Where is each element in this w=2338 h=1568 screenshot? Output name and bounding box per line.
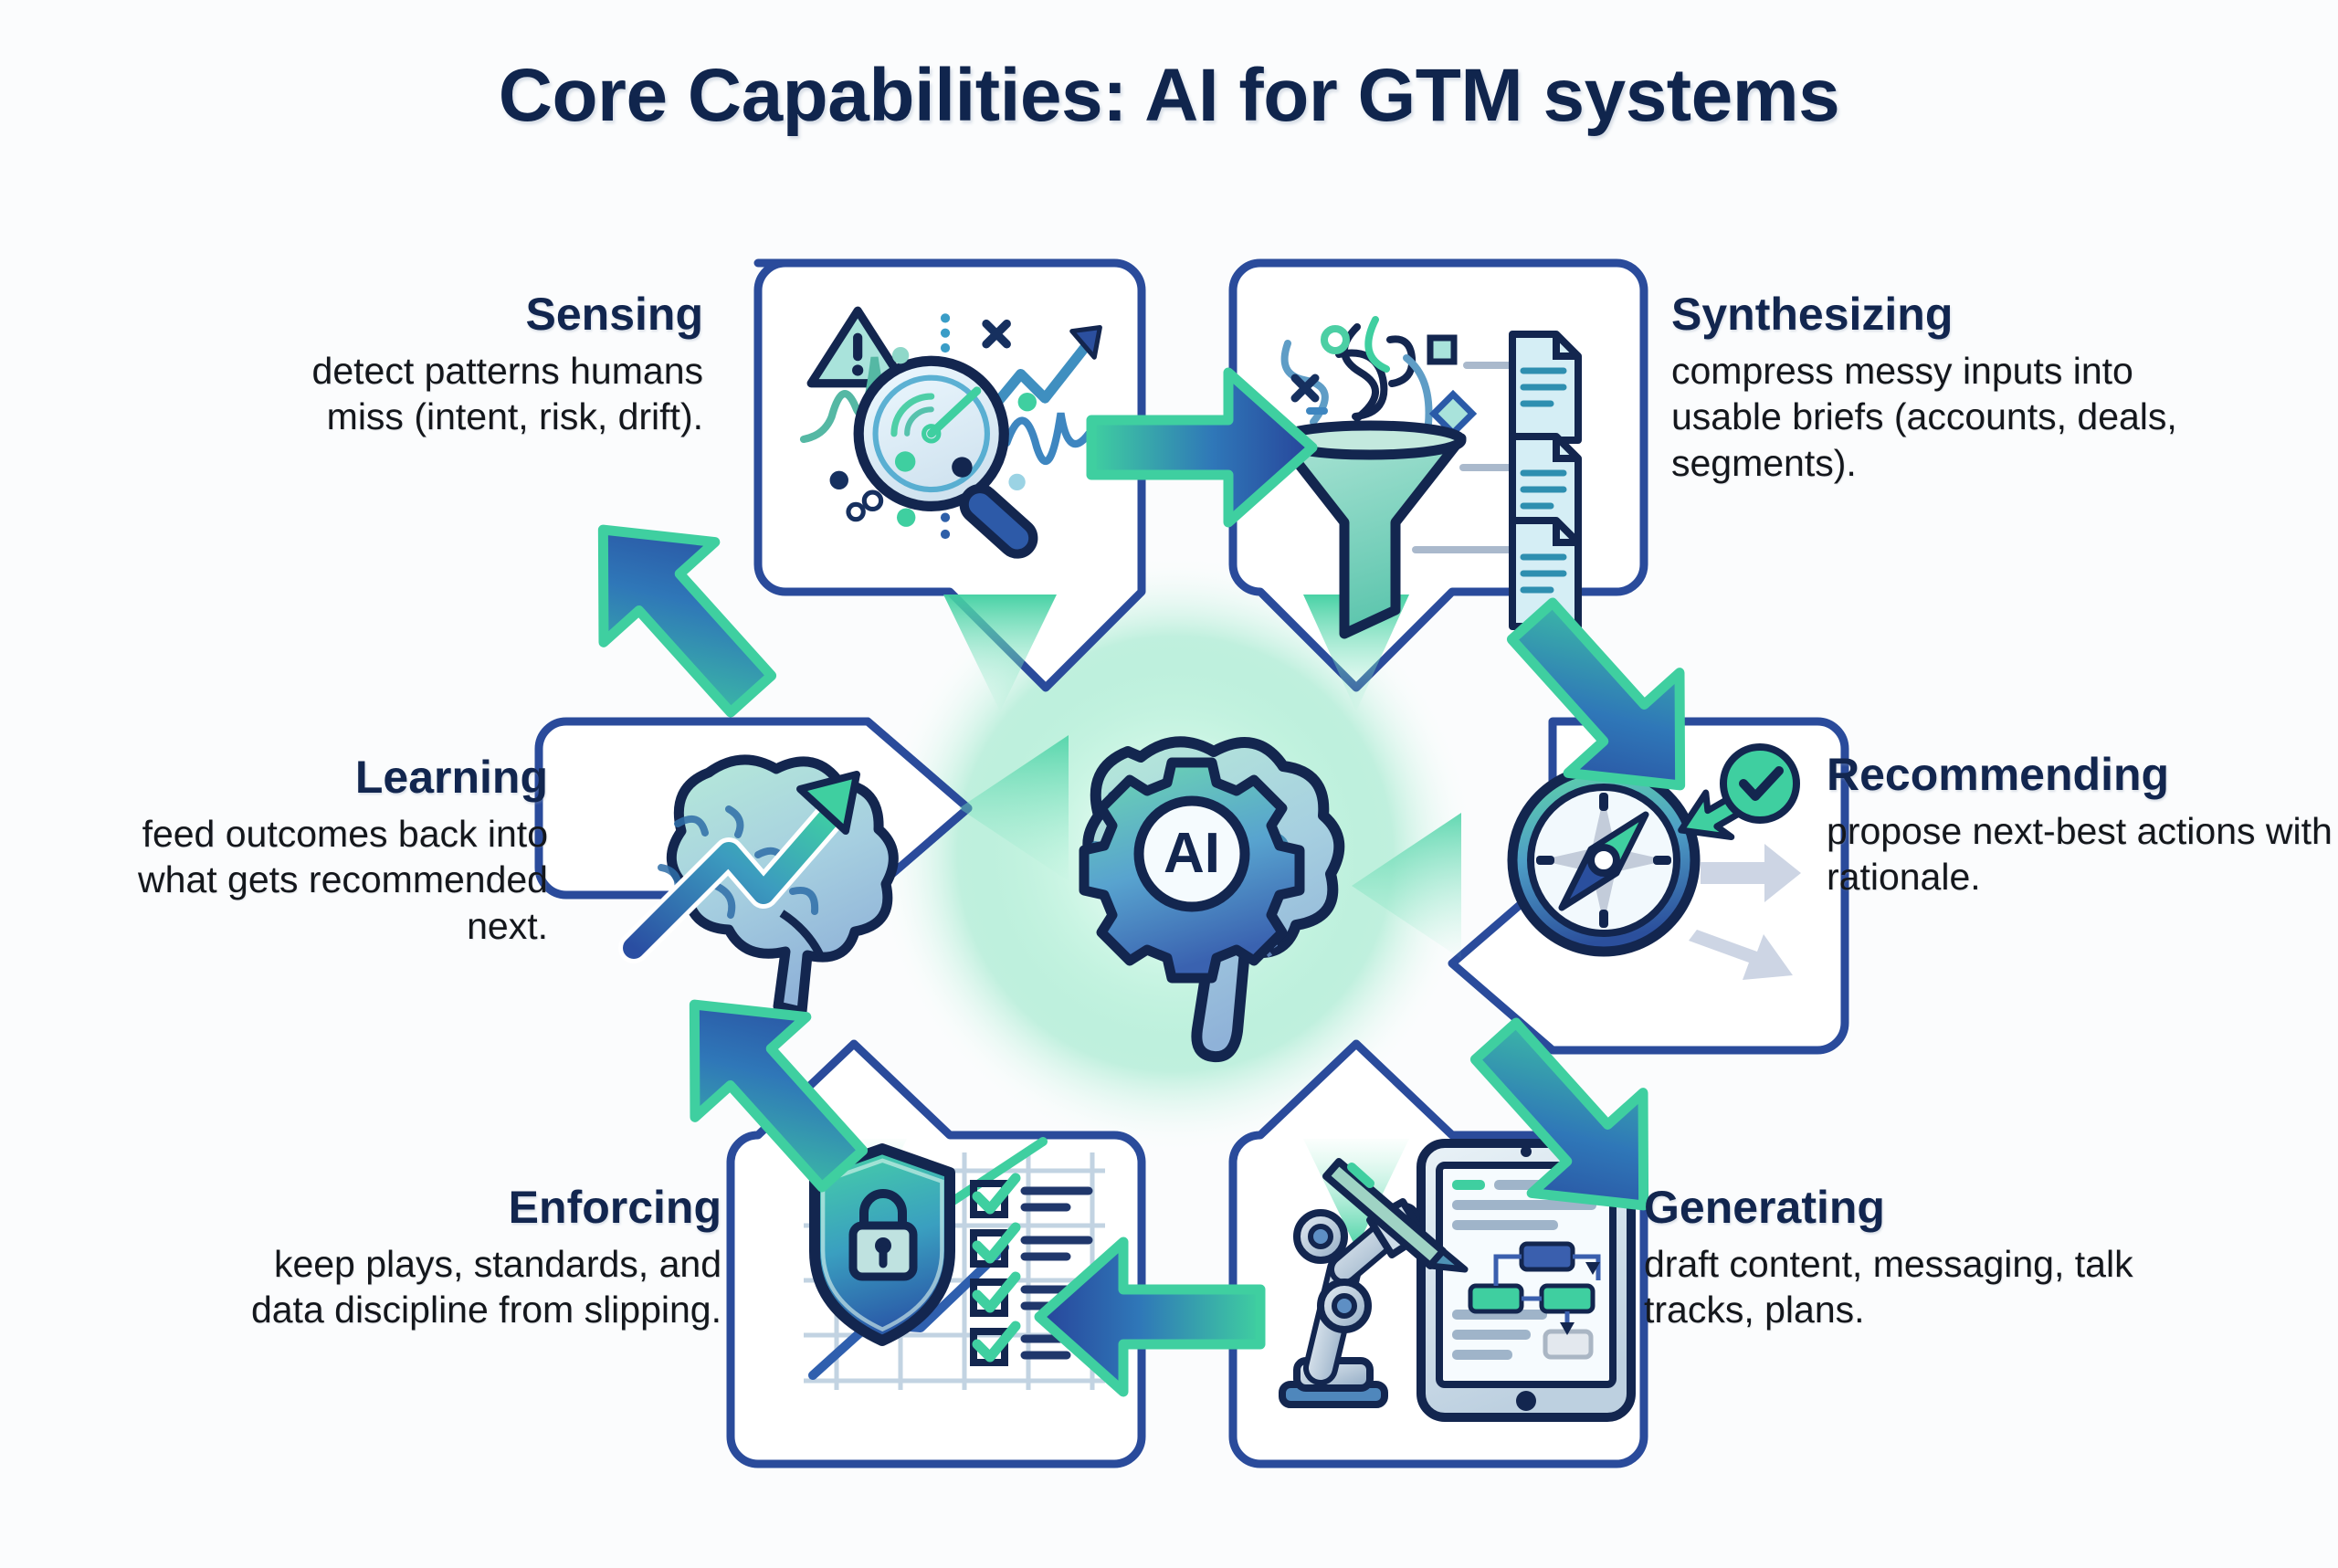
capability-recommending-title: Recommending [1827, 751, 2338, 799]
capability-synthesizing-title: Synthesizing [1671, 290, 2219, 339]
capability-enforcing-body: keep plays, standards, and data discipli… [210, 1241, 721, 1334]
capability-learning-body: feed outcomes back into what gets recomm… [82, 811, 548, 950]
capability-recommending-body: propose next-best actions with rationale… [1827, 808, 2338, 901]
infographic-canvas: Core Capabilities: AI for GTM systems [0, 0, 2338, 1568]
capability-synthesizing[interactable]: Synthesizing compress messy inputs into … [1671, 290, 2219, 487]
capability-enforcing-title: Enforcing [210, 1184, 721, 1232]
labels-layer: Sensing detect patterns humans miss (int… [0, 0, 2338, 1568]
capability-sensing-body: detect patterns humans miss (intent, ris… [274, 348, 703, 441]
capability-generating[interactable]: Generating draft content, messaging, tal… [1644, 1184, 2155, 1333]
capability-recommending[interactable]: Recommending propose next-best actions w… [1827, 751, 2338, 900]
capability-generating-title: Generating [1644, 1184, 2155, 1232]
capability-enforcing[interactable]: Enforcing keep plays, standards, and dat… [210, 1184, 721, 1333]
capability-generating-body: draft content, messaging, talk tracks, p… [1644, 1241, 2155, 1334]
capability-sensing-title: Sensing [274, 290, 703, 339]
capability-learning[interactable]: Learning feed outcomes back into what ge… [82, 753, 548, 950]
capability-synthesizing-body: compress messy inputs into usable briefs… [1671, 348, 2219, 487]
capability-learning-title: Learning [82, 753, 548, 802]
capability-sensing[interactable]: Sensing detect patterns humans miss (int… [274, 290, 703, 440]
